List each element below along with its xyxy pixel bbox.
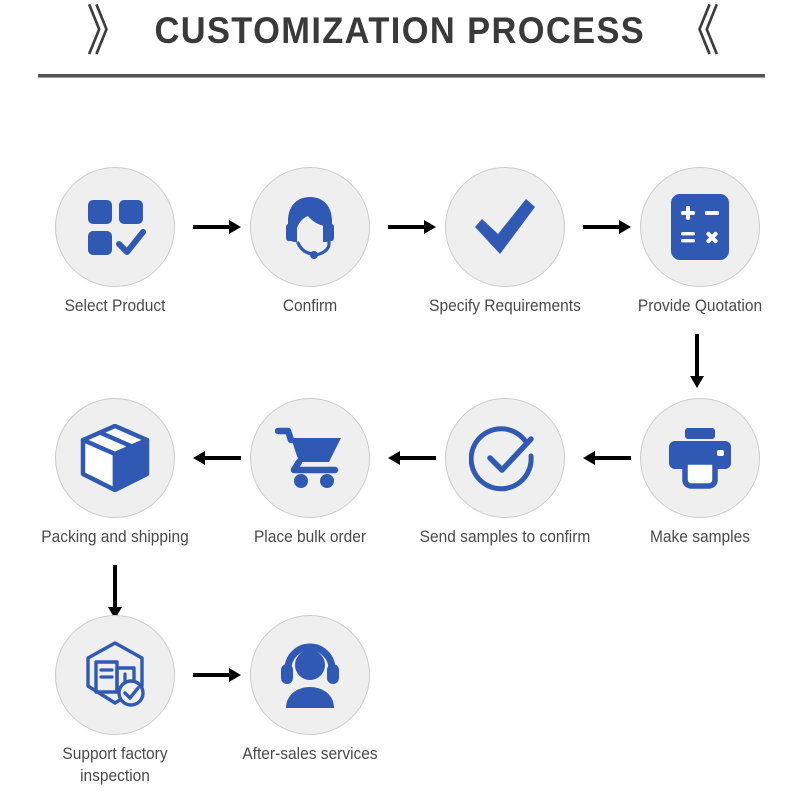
step-label: Provide Quotation: [611, 296, 790, 318]
step-node-confirm[interactable]: Confirm: [215, 167, 405, 318]
shopping-cart-icon: [275, 426, 345, 490]
headset-operator-icon: [274, 191, 346, 263]
step-icon-circle: [55, 615, 175, 735]
step-node-provide-quotation[interactable]: Provide Quotation: [605, 167, 795, 318]
step-icon-circle: [250, 398, 370, 518]
step-label: Send samples to confirm: [416, 527, 595, 549]
factory-inspection-shield-icon: [79, 640, 151, 710]
page-title: CUSTOMIZATION PROCESS: [155, 10, 646, 52]
circle-check-icon: [469, 422, 541, 494]
step-label: Support factory inspection: [26, 744, 205, 788]
arrow-step8-to-step9: [107, 565, 123, 619]
step-node-packing-and-shipping[interactable]: Packing and shipping: [20, 398, 210, 549]
step-icon-circle: [640, 398, 760, 518]
step-icon-circle: [250, 615, 370, 735]
calculator-icon: [669, 192, 731, 262]
step-label: Packing and shipping: [26, 527, 205, 549]
grid-check-icon: [82, 194, 148, 260]
header-divider: [38, 74, 765, 78]
right-double-chevron-icon: 《: [674, 4, 714, 58]
step-label: After-sales services: [221, 744, 400, 766]
package-box-icon: [79, 424, 151, 492]
step-icon-circle: [55, 398, 175, 518]
step-label: Place bulk order: [221, 527, 400, 549]
step-icon-circle: [640, 167, 760, 287]
step-icon-circle: [445, 398, 565, 518]
checkmark-icon: [469, 191, 541, 263]
step-label: Specify Requirements: [416, 296, 595, 318]
title-row: 》 CUSTOMIZATION PROCESS 《: [0, 8, 800, 54]
step-node-specify-requirements[interactable]: Specify Requirements: [410, 167, 600, 318]
step-node-make-samples[interactable]: Make samples: [605, 398, 795, 549]
step-icon-circle: [250, 167, 370, 287]
step-icon-circle: [55, 167, 175, 287]
support-agent-icon: [274, 642, 346, 708]
step-label: Select Product: [26, 296, 205, 318]
arrow-step4-to-step5: [689, 334, 705, 388]
step-node-support-factory-inspection[interactable]: Support factory inspection: [20, 615, 210, 788]
printer-icon: [665, 426, 735, 490]
step-node-send-samples-to-confirm[interactable]: Send samples to confirm: [410, 398, 600, 549]
step-node-after-sales-services[interactable]: After-sales services: [215, 615, 405, 766]
left-double-chevron-icon: 》: [86, 4, 126, 58]
step-label: Confirm: [221, 296, 400, 318]
step-node-select-product[interactable]: Select Product: [20, 167, 210, 318]
step-node-place-bulk-order[interactable]: Place bulk order: [215, 398, 405, 549]
step-label: Make samples: [611, 527, 790, 549]
step-icon-circle: [445, 167, 565, 287]
page-header: 》 CUSTOMIZATION PROCESS 《: [0, 0, 800, 90]
